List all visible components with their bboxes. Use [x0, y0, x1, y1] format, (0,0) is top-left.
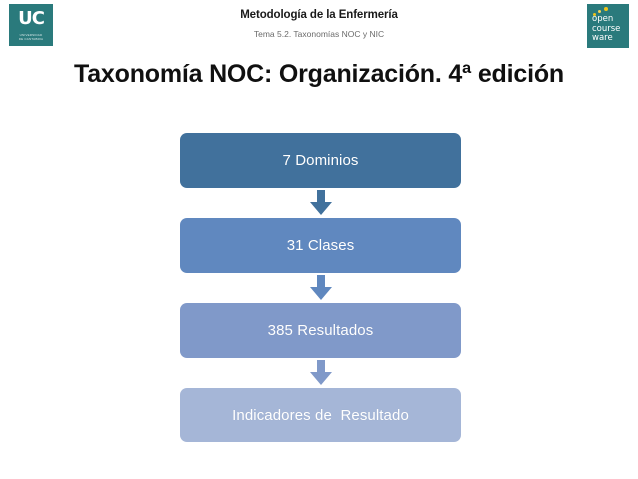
flow-arrow-1: [180, 188, 461, 218]
ocw-word-ware: ware: [592, 34, 620, 44]
uc-logo-letters: UC: [12, 9, 50, 29]
flow-step-outcomes: 385 Resultados: [180, 303, 461, 358]
flow-step-domains: 7 Dominios: [180, 133, 461, 188]
arrow-down-icon: [309, 275, 333, 301]
header-text-block: Metodología de la Enfermería Tema 5.2. T…: [70, 8, 568, 41]
course-subtitle: Tema 5.2. Taxonomías NOC y NIC: [70, 27, 568, 41]
ocw-dot-medium-icon: [598, 10, 601, 13]
flow-step-classes: 31 Clases: [180, 218, 461, 273]
opencourseware-logo: open course ware: [587, 4, 629, 48]
page-title: Taxonomía NOC: Organización. 4ª edición: [0, 58, 638, 90]
ocw-logo-words: open course ware: [592, 15, 620, 44]
slide-header: UC UNIVERSIDAD DE CANTABRIA Metodología …: [0, 0, 638, 52]
uc-logo-caption-line2: DE CANTABRIA: [13, 38, 49, 42]
flow-step-indicators: Indicadores de Resultado: [180, 388, 461, 442]
flow-arrow-3: [180, 358, 461, 388]
ocw-dot-large-icon: [604, 7, 608, 11]
flow-arrow-2: [180, 273, 461, 303]
uc-logo-caption: UNIVERSIDAD DE CANTABRIA: [13, 33, 49, 41]
uc-logo-inner: UC UNIVERSIDAD DE CANTABRIA: [12, 7, 50, 43]
university-of-cantabria-logo: UC UNIVERSIDAD DE CANTABRIA: [9, 4, 53, 46]
arrow-down-icon: [309, 360, 333, 386]
slide-canvas: UC UNIVERSIDAD DE CANTABRIA Metodología …: [0, 0, 638, 479]
course-title: Metodología de la Enfermería: [70, 8, 568, 23]
arrow-down-icon: [309, 190, 333, 216]
noc-taxonomy-flow-diagram: 7 Dominios 31 Clases 385 Resultados Indi…: [180, 133, 461, 442]
